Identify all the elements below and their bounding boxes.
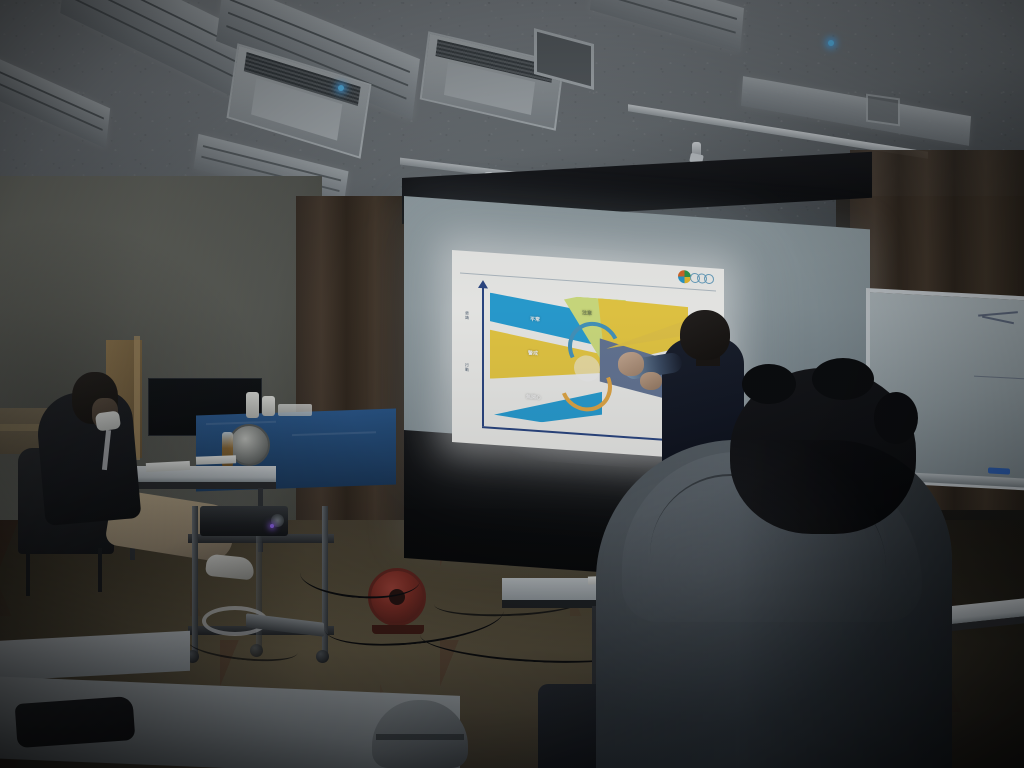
wedge-label-heion: 平常 — [530, 315, 540, 323]
hand-sanitizer[interactable] — [262, 396, 275, 416]
y-axis — [482, 286, 484, 426]
y-axis-label-top: 意識 — [464, 311, 470, 320]
whiteboard-sketch — [982, 316, 1014, 325]
ac-status-led — [338, 85, 344, 91]
whiteboard-sketch — [974, 376, 1024, 380]
documents — [196, 455, 236, 464]
slide-logo — [678, 270, 714, 286]
cart-post — [192, 506, 198, 656]
hair-tuft — [742, 364, 796, 404]
presenter-hand — [640, 372, 662, 390]
ac-status-led — [828, 40, 834, 46]
spotlight-icon — [692, 142, 701, 159]
cart-caster — [316, 650, 329, 663]
projector — [200, 506, 288, 536]
face-mask — [95, 410, 121, 431]
projector-status-led — [270, 524, 274, 528]
presentation-room-photo: 意識 行動 — [0, 0, 1024, 768]
hand-sanitizer[interactable] — [246, 392, 259, 418]
y-axis-label-bottom: 行動 — [464, 363, 470, 372]
chair-leg — [26, 548, 30, 596]
hair-tuft — [812, 358, 874, 400]
wedge-label-mukanshin: 無関心 — [526, 393, 541, 401]
supplies-box — [278, 404, 312, 416]
shoulder-bag — [15, 696, 136, 748]
ceiling-vent — [866, 94, 900, 127]
hair-tuft — [874, 392, 918, 444]
presenter-head — [680, 310, 730, 360]
whiteboard-marker[interactable] — [988, 467, 1010, 474]
wedge-label-chui: 注意 — [582, 309, 592, 317]
olympic-rings-icon — [693, 272, 714, 283]
presenter-hand — [618, 352, 644, 376]
attendee-table-left — [118, 466, 276, 482]
wedge-label-keikai: 警戒 — [528, 349, 538, 357]
chair-leg — [98, 548, 102, 592]
